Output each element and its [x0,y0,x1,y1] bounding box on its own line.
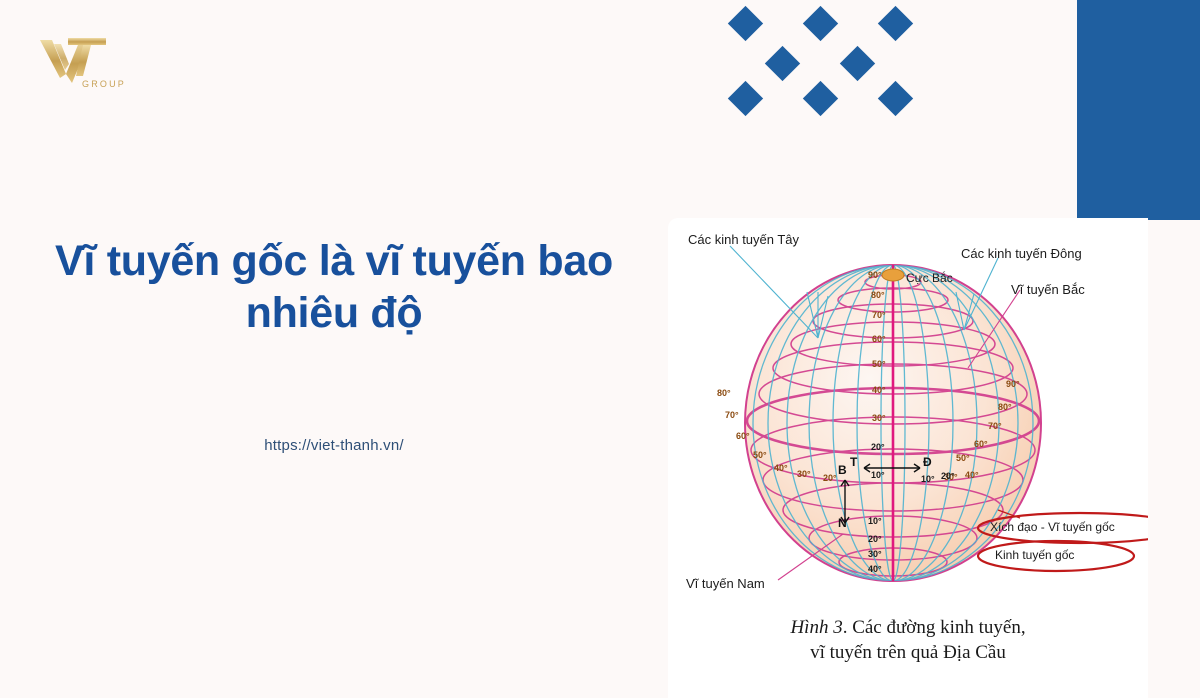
page-title: Vĩ tuyến gốc là vĩ tuyến bao nhiêu độ [24,235,644,340]
degree-tick: 70° [988,421,1002,431]
degree-tick: 50° [956,453,970,463]
degree-tick: 50° [753,450,767,460]
label-north-pole: Cực Bắc [906,271,953,285]
direction-mark-west: T [850,455,857,469]
degree-tick: 60° [974,439,988,449]
decor-blue-block [1077,0,1200,220]
direction-mark-east: Đ [923,455,932,469]
label-west-meridians: Các kinh tuyến Tây [688,232,799,247]
decor-diamond [878,6,913,41]
label-south-parallel: Vĩ tuyến Nam [686,576,765,591]
degree-tick: 10° [871,470,885,480]
degree-tick: 90° [1006,379,1020,389]
globe-diagram: Các kinh tuyến Tây Các kinh tuyến Đông V… [668,218,1148,698]
decor-diamond [728,6,763,41]
degree-tick: 80° [717,388,731,398]
degree-tick: 60° [736,431,750,441]
label-north-parallel: Vĩ tuyến Bắc [1011,282,1085,297]
direction-mark-north: B [838,463,847,477]
site-url[interactable]: https://viet-thanh.vn/ [24,437,644,454]
degree-tick: 40° [774,463,788,473]
logo-mark-icon: GROUP [36,34,132,90]
degree-tick: 80° [871,290,885,300]
decor-diamond-grid [728,6,918,114]
annotation-prime-meridian: Kinh tuyến gốc [995,548,1074,562]
degree-tick: 90° [868,270,882,280]
degree-tick: 30° [797,469,811,479]
degree-tick: 10° [921,474,935,484]
degree-tick: 20° [823,473,837,483]
decor-diamond [728,81,763,116]
degree-tick: 60° [872,334,886,344]
degree-tick: 30° [872,413,886,423]
degree-tick: 30° [868,549,882,559]
decor-diamond [803,6,838,41]
decor-diamond [803,81,838,116]
figure-panel: Các kinh tuyến Tây Các kinh tuyến Đông V… [668,218,1148,698]
figure-caption-line1: . Các đường kinh tuyến, [843,617,1026,638]
degree-tick: 20° [871,442,885,452]
degree-tick: 40° [872,385,886,395]
degree-tick: 40° [868,564,882,574]
degree-tick: 70° [725,410,739,420]
degree-tick: 50° [872,359,886,369]
direction-mark-south: N [838,516,847,530]
annotation-equator-prime-parallel: Xích đạo - Vĩ tuyến gốc [990,520,1115,534]
degree-tick: 70° [872,310,886,320]
decor-diamond [840,46,875,81]
figure-caption: Hình 3. Các đường kinh tuyến, vĩ tuyến t… [668,616,1148,665]
decor-diamond [878,81,913,116]
figure-caption-line2: vĩ tuyến trên quả Địa Cầu [668,641,1148,666]
figure-number: Hình 3 [790,617,842,638]
degree-tick: 20° [941,471,955,481]
vt-group-logo[interactable]: GROUP [36,34,132,90]
degree-tick: 10° [868,516,882,526]
degree-tick: 40° [965,470,979,480]
svg-text:GROUP: GROUP [82,79,126,89]
degree-tick: 20° [868,534,882,544]
label-east-meridians: Các kinh tuyến Đông [961,246,1082,261]
decor-diamond [765,46,800,81]
degree-tick: 80° [998,402,1012,412]
